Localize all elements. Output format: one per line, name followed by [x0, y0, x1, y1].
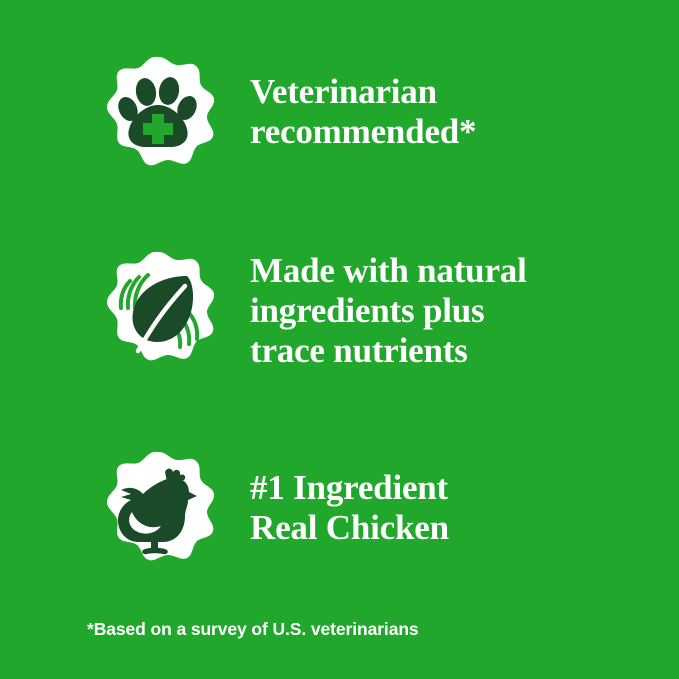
feature-row-real-chicken: #1 Ingredient Real Chicken	[0, 450, 679, 570]
badge-real-chicken	[99, 450, 219, 570]
footnote-disclaimer: *Based on a survey of U.S. veterinarians	[87, 618, 419, 640]
feature-label-veterinarian: Veterinarian recommended*	[250, 55, 476, 152]
chicken-feet	[142, 548, 168, 554]
feature-label-real-chicken: #1 Ingredient Real Chicken	[250, 450, 449, 548]
product-benefits-infographic: Veterinarian recommended*	[0, 0, 679, 679]
feature-label-natural-ingredients: Made with natural ingredients plus trace…	[250, 250, 527, 371]
badge-veterinarian	[99, 55, 219, 175]
badge-natural-ingredients	[99, 250, 219, 370]
feature-row-veterinarian: Veterinarian recommended*	[0, 55, 679, 175]
feature-row-natural-ingredients: Made with natural ingredients plus trace…	[0, 250, 679, 371]
